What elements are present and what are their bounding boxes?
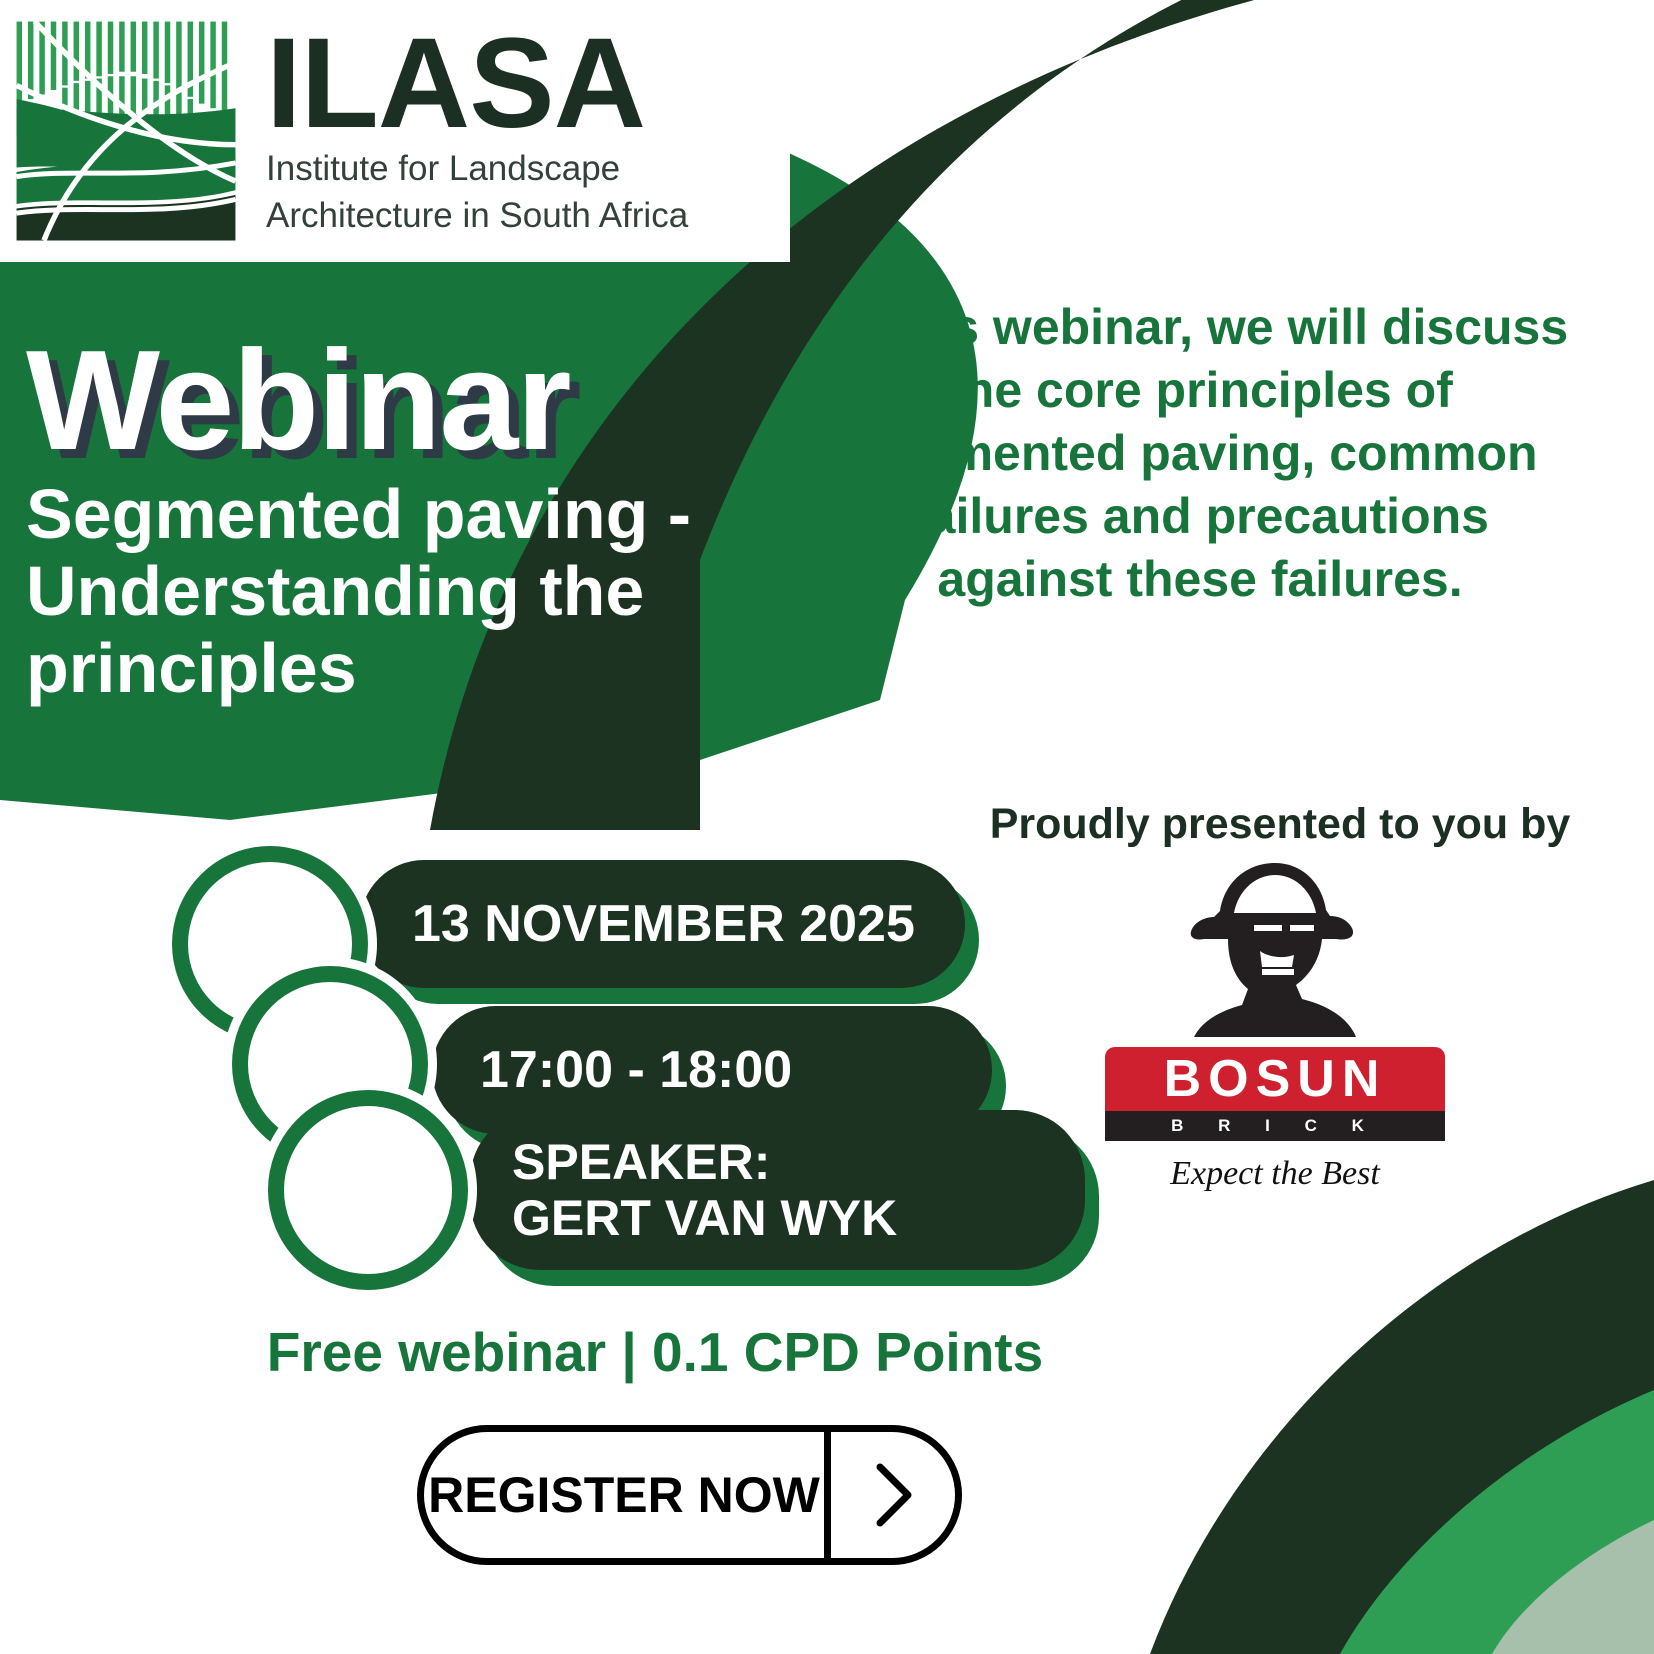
register-divider bbox=[824, 1432, 831, 1558]
ilasa-landscape-mark bbox=[12, 17, 240, 245]
page-title: Segmented paving - Understanding the pri… bbox=[26, 476, 766, 707]
detail-label-time: 17:00 - 18:00 bbox=[432, 1041, 792, 1100]
detail-row-speaker: SPEAKER: GERT VAN WYK bbox=[470, 1110, 1085, 1270]
webinar-poster: ILASA Institute for Landscape Architectu… bbox=[0, 0, 1654, 1654]
pill-speaker: SPEAKER: GERT VAN WYK bbox=[470, 1110, 1085, 1270]
detail-label-speaker: SPEAKER: GERT VAN WYK bbox=[470, 1134, 897, 1247]
cpd-info: Free webinar | 0.1 CPD Points bbox=[150, 1320, 1160, 1384]
bosun-subwordmark: B R I C K bbox=[1105, 1111, 1445, 1141]
bosun-hardhat-worker-icon bbox=[1150, 855, 1400, 1045]
decor-ring-3 bbox=[268, 1090, 468, 1290]
presented-by-label: Proudly presented to you by bbox=[930, 800, 1630, 849]
register-now-button[interactable]: REGISTER NOW bbox=[417, 1425, 962, 1565]
detail-row-date: 13 NOVEMBER 2025 bbox=[360, 860, 965, 988]
bottom-right-arcs bbox=[1150, 1180, 1654, 1654]
webinar-description: In this webinar, we will discuss the cor… bbox=[820, 296, 1580, 611]
headline-block: Webinar Segmented paving - Understanding… bbox=[26, 330, 766, 707]
headline-kicker: Webinar bbox=[26, 330, 766, 472]
bosun-tagline: Expect the Best bbox=[1105, 1155, 1445, 1193]
pill-date: 13 NOVEMBER 2025 bbox=[360, 860, 965, 988]
event-details: 13 NOVEMBER 2025 17:00 - 18:00 SPEAKER: … bbox=[0, 838, 1100, 1308]
logo-acronym: ILASA bbox=[266, 25, 688, 143]
ilasa-logo-card: ILASA Institute for Landscape Architectu… bbox=[0, 0, 790, 262]
logo-subtitle-line2: Architecture in South Africa bbox=[266, 196, 688, 237]
register-button-label: REGISTER NOW bbox=[424, 1432, 824, 1558]
bosun-logo: BOSUN B R I C K Expect the Best bbox=[1105, 855, 1445, 1193]
bosun-name: BOSUN bbox=[1164, 1049, 1387, 1109]
logo-subtitle-line1: Institute for Landscape bbox=[266, 149, 688, 190]
bosun-wordmark: BOSUN bbox=[1105, 1047, 1445, 1111]
bosun-subname: B R I C K bbox=[1171, 1116, 1379, 1136]
detail-label-date: 13 NOVEMBER 2025 bbox=[360, 895, 915, 954]
chevron-right-icon bbox=[831, 1432, 955, 1558]
